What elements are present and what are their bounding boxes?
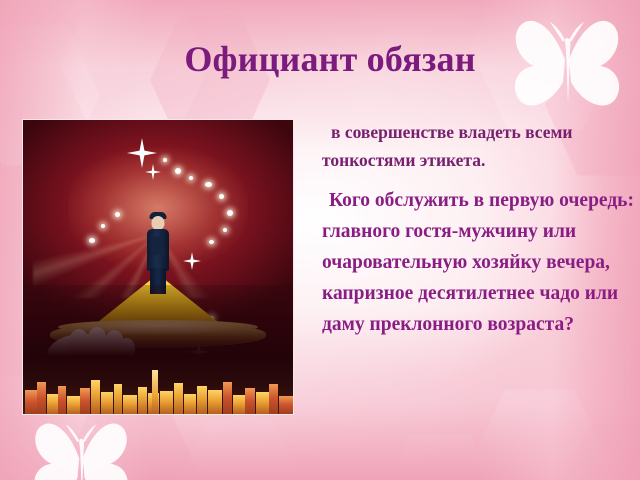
sparkle-dot [219,194,224,199]
sparkle-dot [205,182,212,187]
body-paragraph-2: Кого обслужить в первую очередь: главног… [322,185,638,340]
slide-body: в совершенстве владеть всеми тонкостями … [322,118,638,340]
sparkle-dot [189,176,193,180]
butterfly-icon [28,412,134,480]
sparkle-dot [227,210,233,216]
slide-image [22,119,294,415]
sparkle-dot [115,212,120,217]
body-paragraph-1: в совершенстве владеть всеми тонкостями … [322,118,638,174]
sparkle-dot [101,224,105,228]
sparkle-dot [175,168,181,174]
sparkle-dot [209,240,214,244]
slide-title: Официант обязан [120,36,540,82]
slide: Официант обязан [0,0,640,480]
sparkle-dot [89,238,95,243]
sparkle-dot [163,158,167,162]
sparkle-dot [223,228,227,232]
waiter-head [152,216,165,230]
skyline-glow [23,358,293,414]
